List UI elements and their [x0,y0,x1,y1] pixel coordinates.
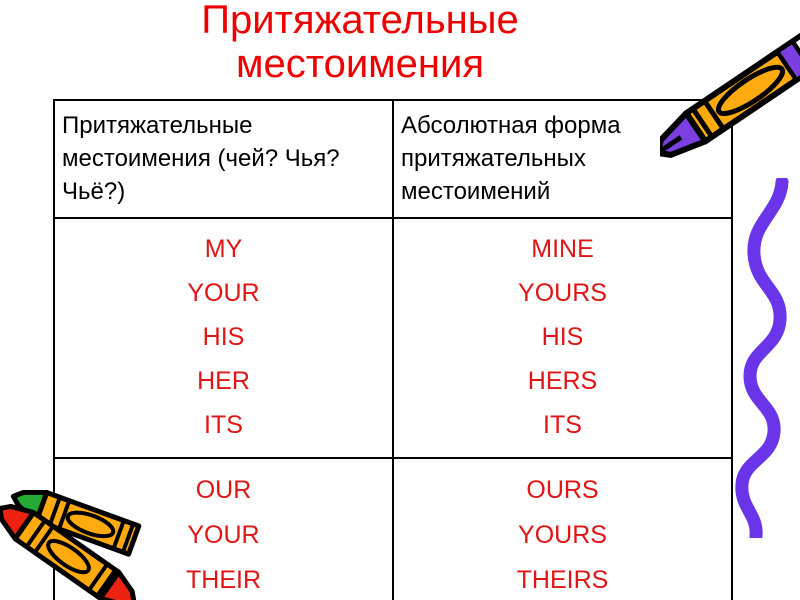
pronoun-word: HIS [398,315,727,359]
pronoun-word: OURS [398,468,727,513]
header-cell-possessive: Притяжательные местоимения (чей? Чья? Чь… [54,100,393,218]
pronoun-word: YOURS [398,271,727,315]
slide-canvas: Притяжательные местоимения Притяжательны… [0,0,800,600]
table-row: MY YOUR HIS HER ITS MINE YOURS HIS HERS … [54,218,732,458]
pronoun-word: OUR [59,468,388,513]
pronoun-word: HER [59,359,388,403]
header-label-absolute: Абсолютная форма притяжательных местоиме… [394,101,731,217]
pronoun-list-plural-absolute: OURS YOURS THEIRS [394,459,731,600]
page-title: Притяжательные местоимения [120,0,600,86]
pronoun-word: THEIRS [398,558,727,600]
pronoun-list-plural-possessive: OUR YOUR THEIR [55,459,392,600]
header-label-possessive: Притяжательные местоимения (чей? Чья? Чь… [55,101,392,217]
pronoun-word: YOURS [398,513,727,558]
pronoun-word: MY [59,227,388,271]
pronoun-word: HERS [398,359,727,403]
pronoun-word: HIS [59,315,388,359]
pronoun-word: ITS [59,403,388,447]
pronoun-list-singular-absolute: MINE YOURS HIS HERS ITS [394,219,731,457]
pronoun-word: ITS [398,403,727,447]
pronoun-word: THEIR [59,558,388,600]
cell-singular-absolute: MINE YOURS HIS HERS ITS [393,218,732,458]
table-header-row: Притяжательные местоимения (чей? Чья? Чь… [54,100,732,218]
cell-plural-absolute: OURS YOURS THEIRS [393,458,732,600]
possessive-pronouns-table: Притяжательные местоимения (чей? Чья? Чь… [53,99,733,600]
cell-plural-possessive: OUR YOUR THEIR [54,458,393,600]
pronoun-word: YOUR [59,513,388,558]
table-row: OUR YOUR THEIR OURS YOURS THEIRS [54,458,732,600]
header-cell-absolute: Абсолютная форма притяжательных местоиме… [393,100,732,218]
pronoun-word: YOUR [59,271,388,315]
cell-singular-possessive: MY YOUR HIS HER ITS [54,218,393,458]
pronoun-list-singular-possessive: MY YOUR HIS HER ITS [55,219,392,457]
pronoun-word: MINE [398,227,727,271]
